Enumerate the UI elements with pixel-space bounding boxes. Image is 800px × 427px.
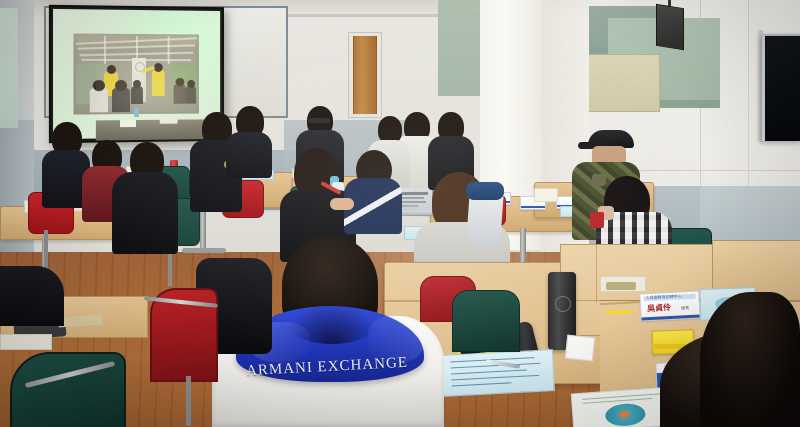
wooden-door[interactable]	[353, 36, 377, 114]
person-hair	[700, 292, 800, 427]
name-card-name: 吳貞伶	[647, 304, 671, 313]
held-phone	[592, 174, 606, 186]
glasses-icon	[308, 118, 330, 123]
table-base	[182, 248, 226, 253]
food-item	[606, 282, 636, 290]
projected-slide-image	[74, 33, 199, 114]
projector-screen	[49, 5, 224, 143]
name-card: 人資處教育訓練中心 吳貞伶 組長	[639, 290, 700, 321]
person-foreground-left	[0, 266, 64, 326]
table-seam	[384, 300, 424, 302]
notice-board	[578, 54, 660, 112]
lunch-box	[534, 188, 558, 202]
blue-form	[441, 349, 555, 397]
tissue-pack	[565, 335, 595, 362]
chair-green[interactable]	[452, 290, 520, 352]
circular-logo	[605, 402, 646, 427]
paper	[0, 334, 52, 350]
blue-bag	[466, 182, 504, 200]
table-seam	[596, 244, 597, 302]
left-mint-panel	[0, 8, 18, 128]
wall-tv-monitor[interactable]	[762, 34, 800, 141]
person-body	[226, 132, 272, 178]
fabric-highlight	[368, 316, 424, 362]
mint-glass-panel-left	[438, 0, 484, 96]
person-hand	[330, 198, 354, 210]
speaker-icon	[656, 4, 684, 50]
yellow-tape	[606, 310, 632, 314]
name-card-role: 組長	[681, 306, 689, 310]
meeting-room-photograph: 人資處教育訓練中心 吳貞伶 組長 大愛台 戴 ARMANI	[0, 0, 800, 427]
held-item	[590, 212, 604, 228]
person-body	[112, 172, 178, 254]
